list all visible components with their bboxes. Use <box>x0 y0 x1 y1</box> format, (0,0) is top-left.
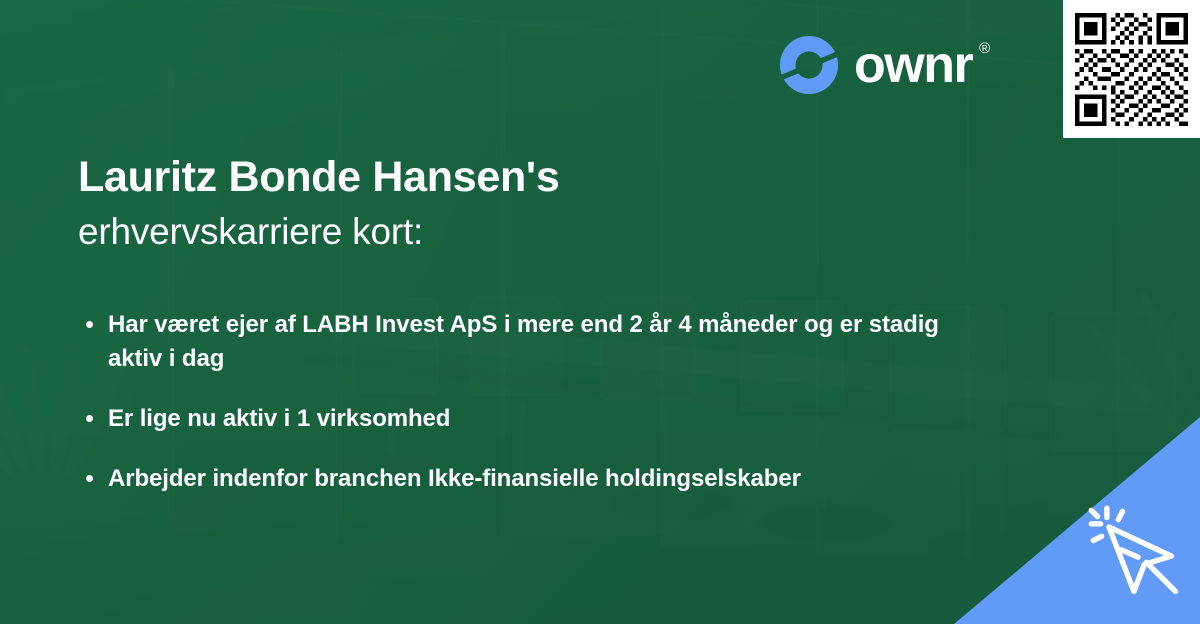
qr-code-image <box>1075 13 1188 126</box>
brand-wordmark: ownr® <box>854 39 990 91</box>
click-cursor-icon <box>1084 502 1188 606</box>
brand-name: ownr <box>854 36 972 94</box>
list-item: Arbejder indenfor branchen Ikke-finansie… <box>78 462 968 496</box>
brand-logo[interactable]: ownr® <box>778 34 990 96</box>
qr-code[interactable] <box>1063 0 1200 138</box>
list-item: Har været ejer af LABH Invest ApS i mere… <box>78 308 968 376</box>
registered-mark: ® <box>979 41 990 56</box>
ownr-circle-slash-icon <box>778 34 840 96</box>
headline-primary: Lauritz Bonde Hansen's <box>78 152 978 203</box>
career-facts-list: Har været ejer af LABH Invest ApS i mere… <box>78 308 968 496</box>
headline-secondary: erhvervskarriere kort: <box>78 209 978 255</box>
page-title: Lauritz Bonde Hansen's erhvervskarriere … <box>78 152 978 255</box>
card-content: ownr® <box>0 0 1200 624</box>
list-item: Er lige nu aktiv i 1 virksomhed <box>78 402 968 436</box>
share-card: ownr® <box>0 0 1200 624</box>
